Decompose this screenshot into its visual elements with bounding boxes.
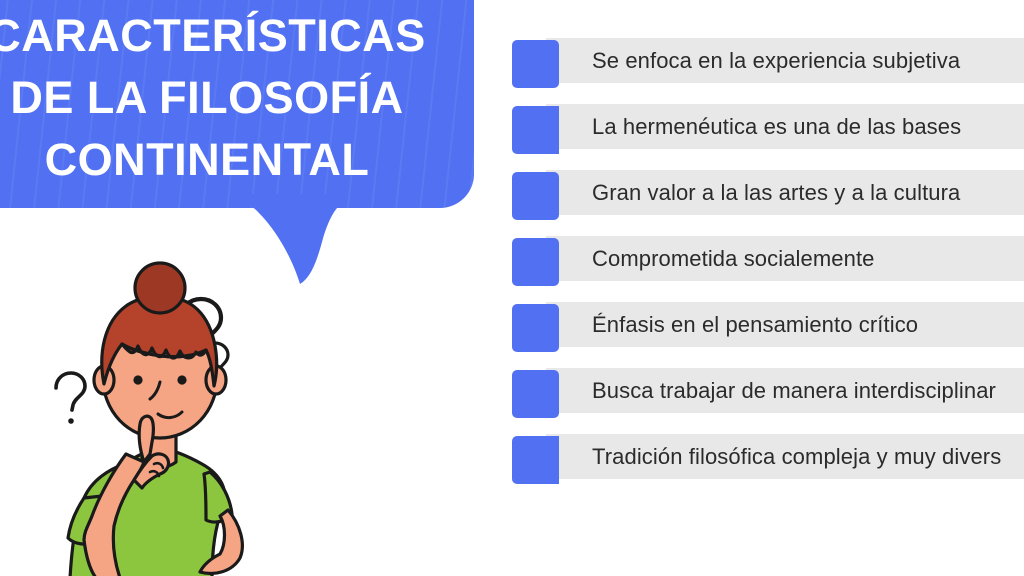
list-item-label: La hermenéutica es una de las bases (592, 104, 1024, 149)
list-item-bullet-chip (512, 40, 559, 88)
list-item-bullet-chip (512, 436, 559, 484)
title-text-block: CARACTERÍSTICAS DE LA FILOSOFÍA CONTINEN… (0, 0, 474, 208)
list-item-label: Busca trabajar de manera interdisciplina… (592, 368, 1024, 413)
question-mark-left (56, 373, 85, 424)
list-item[interactable]: Tradición filosófica compleja y muy dive… (512, 426, 1024, 476)
title-speech-bubble: CARACTERÍSTICAS DE LA FILOSOFÍA CONTINEN… (0, 0, 474, 210)
list-item-bullet-chip (512, 370, 559, 418)
list-item-label: Comprometida socialemente (592, 236, 1024, 281)
title-line-1: CARACTERÍSTICAS (0, 5, 426, 67)
list-item-bullet-chip (512, 172, 559, 220)
list-item[interactable]: Gran valor a la las artes y a la cultura (512, 162, 1024, 212)
list-item-label: Gran valor a la las artes y a la cultura (592, 170, 1024, 215)
characteristics-list: Se enfoca en la experiencia subjetiva La… (512, 30, 1024, 492)
thinking-woman-illustration (34, 258, 294, 576)
title-line-3: CONTINENTAL (45, 129, 370, 191)
list-item-label: Énfasis en el pensamiento crítico (592, 302, 1024, 347)
list-item-label: Tradición filosófica compleja y muy dive… (592, 434, 1024, 479)
list-item[interactable]: Comprometida socialemente (512, 228, 1024, 278)
list-item[interactable]: Se enfoca en la experiencia subjetiva (512, 30, 1024, 80)
title-line-2: DE LA FILOSOFÍA (10, 67, 403, 129)
list-item[interactable]: La hermenéutica es una de las bases (512, 96, 1024, 146)
list-item[interactable]: Busca trabajar de manera interdisciplina… (512, 360, 1024, 410)
list-item-label: Se enfoca en la experiencia subjetiva (592, 38, 1024, 83)
list-item-bullet-chip (512, 106, 559, 154)
list-item[interactable]: Énfasis en el pensamiento crítico (512, 294, 1024, 344)
infographic-canvas: CARACTERÍSTICAS DE LA FILOSOFÍA CONTINEN… (0, 0, 1024, 576)
list-item-bullet-chip (512, 304, 559, 352)
list-item-bullet-chip (512, 238, 559, 286)
